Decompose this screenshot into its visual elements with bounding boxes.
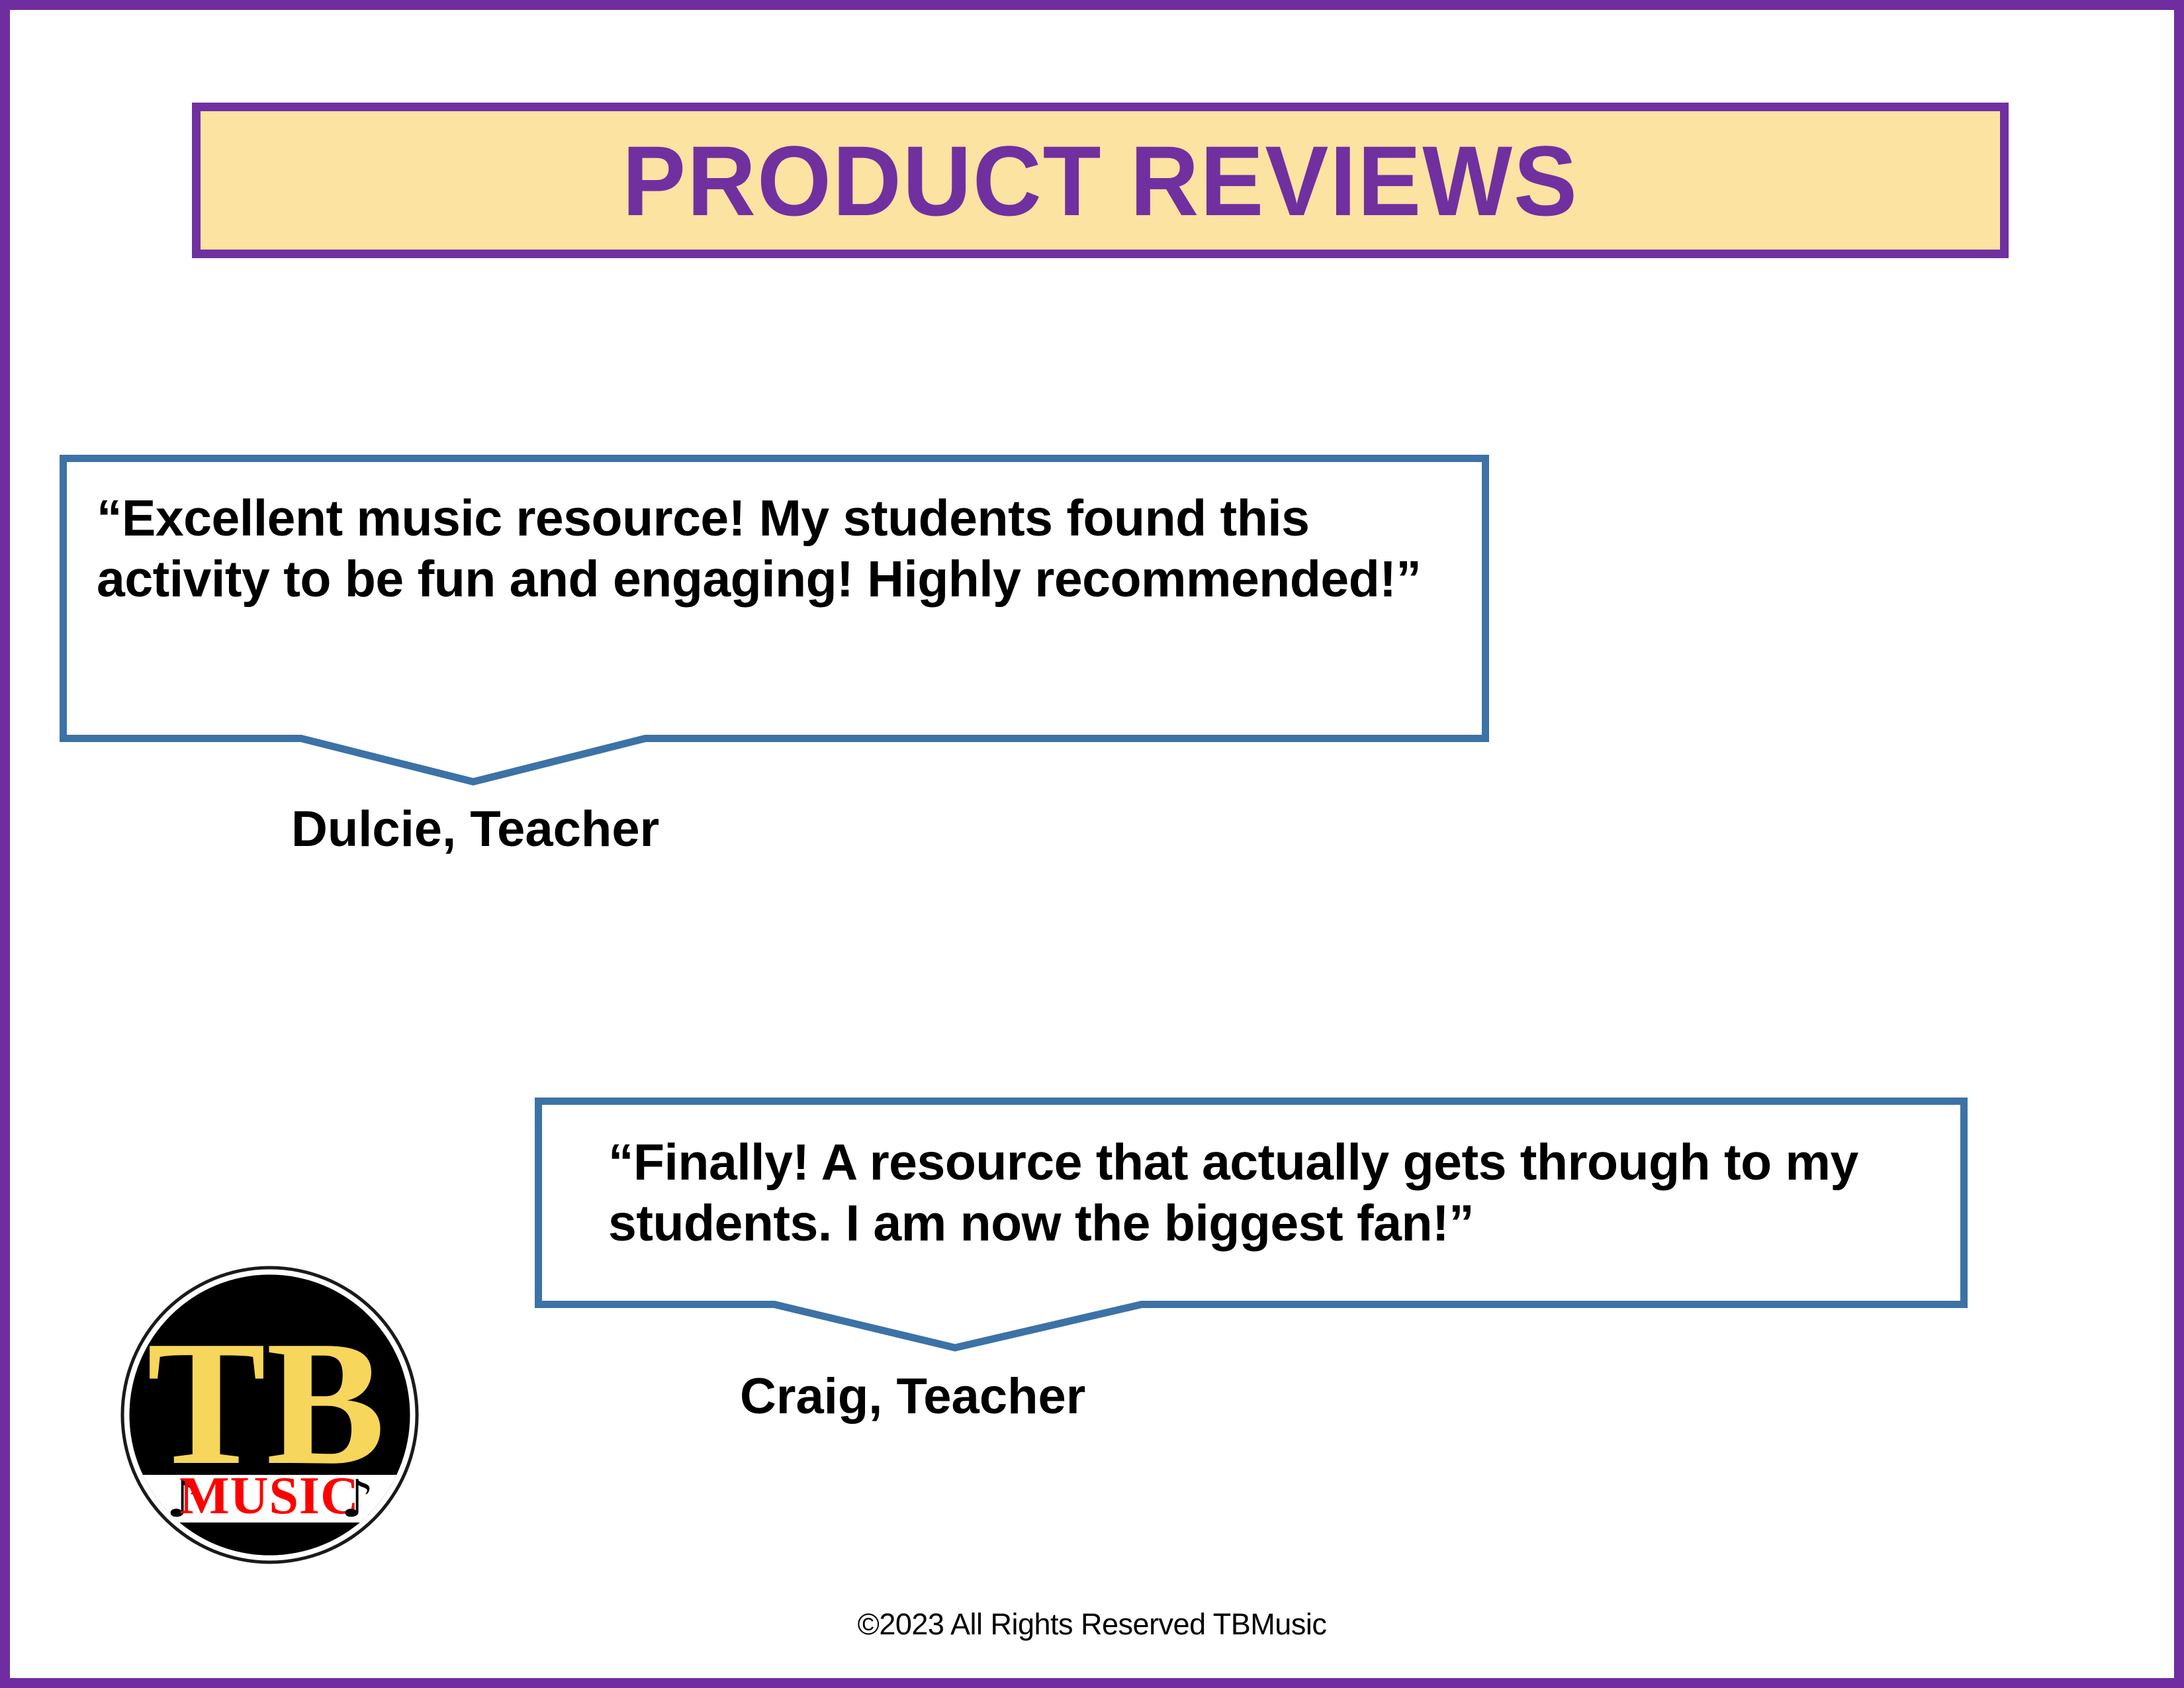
page-border-bottom bbox=[0, 1678, 2184, 1688]
review-attribution-1: Dulcie, Teacher bbox=[291, 804, 659, 855]
logo-wordmark-text: MUSIC bbox=[179, 1467, 359, 1525]
review-callout-2: “Finally! A resource that actually gets … bbox=[535, 1098, 1968, 1362]
page-border-top bbox=[0, 0, 2184, 10]
page-border-left bbox=[0, 0, 10, 1688]
page-border-right bbox=[2174, 0, 2184, 1688]
review-callout-1-body: “Excellent music resource! My students f… bbox=[60, 455, 1489, 742]
title-banner: PRODUCT REVIEWS bbox=[192, 103, 2009, 258]
slide-canvas: PRODUCT REVIEWS “Excellent music resourc… bbox=[0, 0, 2184, 1688]
tbmusic-logo: TB ♪ MUSIC ♪ bbox=[119, 1264, 420, 1566]
review-quote-1: “Excellent music resource! My students f… bbox=[97, 489, 1473, 610]
review-callout-2-tail bbox=[535, 1301, 1968, 1352]
page-title: PRODUCT REVIEWS bbox=[622, 131, 1578, 230]
review-attribution-2: Craig, Teacher bbox=[740, 1372, 1085, 1422]
review-callout-2-body: “Finally! A resource that actually gets … bbox=[535, 1098, 1968, 1308]
review-callout-1: “Excellent music resource! My students f… bbox=[60, 455, 1489, 786]
review-quote-2: “Finally! A resource that actually gets … bbox=[608, 1133, 1938, 1254]
footer-copyright: ©2023 All Rights Reserved TBMusic bbox=[0, 1607, 2184, 1642]
review-callout-1-tail bbox=[60, 735, 1489, 786]
